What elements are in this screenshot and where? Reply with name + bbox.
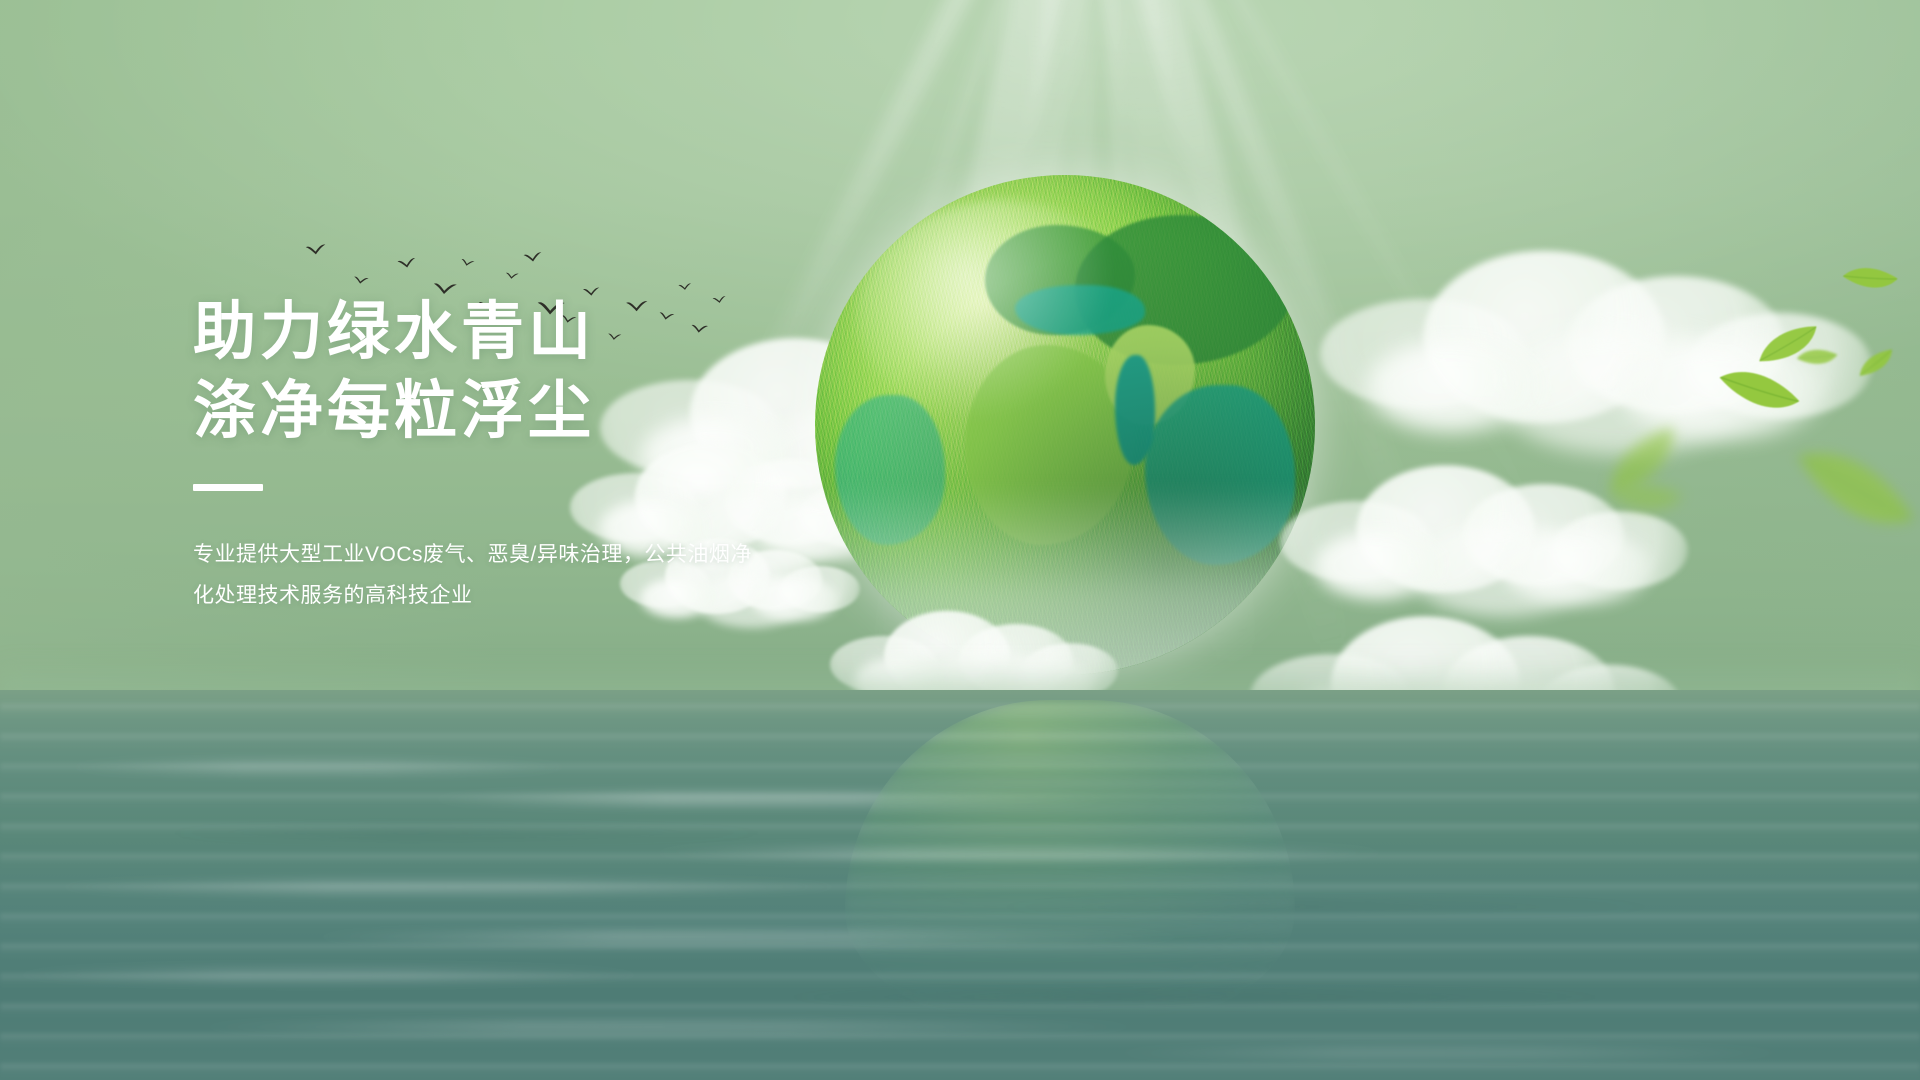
bird-icon (304, 243, 327, 257)
subtitle-line-2: 化处理技术服务的高科技企业 (193, 576, 833, 617)
leaf-icon (1840, 257, 1899, 299)
grass-earth-globe (815, 175, 1315, 675)
cloud-puff (1501, 532, 1654, 605)
globe-bottom-mist (815, 485, 1315, 675)
cloud-puff (1408, 523, 1604, 617)
bird-icon (678, 282, 693, 292)
cloud-puff (1552, 511, 1688, 589)
bird-icon (505, 271, 520, 280)
hero-banner: 助力绿水青山 涤净每粒浮尘 专业提供大型工业VOCs废气、恶臭/异味治理，公共油… (0, 0, 1920, 1080)
subtitle-line-1: 专业提供大型工业VOCs废气、恶臭/异味治理，公共油烟净 (193, 535, 833, 576)
leaf-icon (1853, 347, 1899, 378)
bird-icon (522, 251, 543, 265)
cloud-puff (1463, 484, 1625, 586)
cloud-puff (1314, 532, 1442, 600)
hero-subtitle: 专业提供大型工业VOCs废气、恶臭/异味治理，公共油烟净 化处理技术服务的高科技… (193, 535, 833, 617)
cloud-puff (1493, 329, 1758, 456)
cloud-puff (1366, 340, 1539, 432)
water-ripple (0, 968, 660, 982)
bird-icon (396, 256, 418, 270)
globe-water-reflection (845, 700, 1295, 1030)
cloud-puff (1424, 251, 1666, 424)
page-title: 助力绿水青山 涤净每粒浮尘 (193, 300, 833, 444)
bird-icon (352, 275, 369, 286)
cloud-puff (1357, 465, 1536, 593)
water-ripple (60, 760, 580, 774)
water-ripple (150, 826, 790, 840)
bird-icon (459, 258, 475, 269)
title-accent-bar (193, 484, 263, 491)
headline-line-1: 助力绿水青山 (193, 297, 595, 367)
hero-copy: 助力绿水青山 涤净每粒浮尘 专业提供大型工业VOCs废气、恶臭/异味治理，公共油… (193, 300, 833, 617)
headline-line-2: 涤净每粒浮尘 (193, 379, 833, 444)
bird-icon (432, 281, 459, 297)
cloud-puff (1320, 299, 1527, 408)
water-ripple (1100, 1046, 1800, 1060)
leaf-icon (1795, 343, 1838, 370)
globe-sphere (815, 175, 1315, 675)
water-ripple (40, 880, 860, 894)
leaf-icon (1790, 421, 1919, 556)
